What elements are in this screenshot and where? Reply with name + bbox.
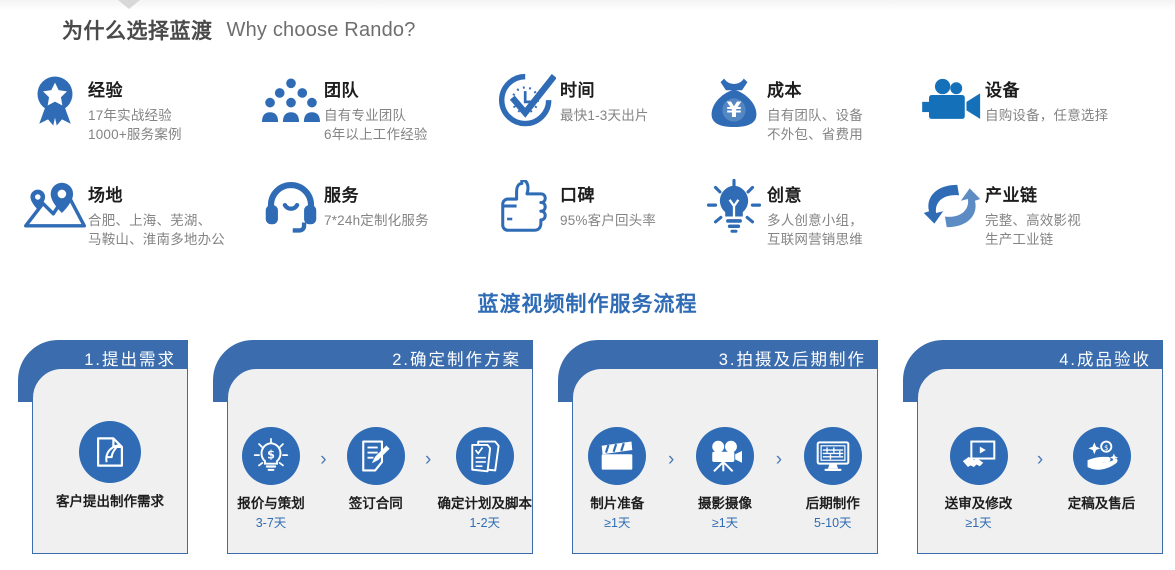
feature-desc: 完整、高效影视 生产工业链	[985, 211, 1081, 249]
feature-item-medal: 经验17年实战经验 1000+服务案例	[22, 70, 258, 175]
feature-title: 产业链	[985, 186, 1081, 206]
process-step[interactable]: 制片准备≥1天	[573, 427, 661, 532]
process-step[interactable]: 客户提出制作需求	[33, 421, 187, 511]
feature-title: 成本	[767, 81, 863, 101]
process-card-header-label: 4.成品验收	[1059, 346, 1151, 370]
svg-text:¥: ¥	[727, 98, 742, 123]
process-step[interactable]: 确定计划及脚本1-2天	[438, 427, 533, 532]
page-title-cn: 为什么选择蓝渡	[62, 15, 213, 45]
bulb-dollar-icon: $	[242, 427, 300, 485]
feature-item-headset: 服务7*24h定制化服务	[258, 175, 494, 270]
headset-icon	[258, 175, 324, 237]
process-step[interactable]: $ 定稿及售后	[1051, 427, 1152, 513]
process-card-4[interactable]: 4.成品验收 送审及修改≥1天› $ 定稿及售后	[903, 340, 1163, 554]
feature-desc: 95%客户回头率	[560, 211, 656, 230]
feature-item-team-people: 团队自有专业团队 6年以上工作经验	[258, 70, 494, 175]
page-root: 为什么选择蓝渡 Why choose Rando? 经验17年实战经验 1000…	[0, 0, 1175, 570]
process-step-list: 客户提出制作需求	[33, 421, 187, 511]
recycle-arrows-icon	[919, 175, 985, 237]
movie-camera-icon	[696, 427, 754, 485]
feature-title: 设备	[985, 81, 1108, 101]
clock-check-icon	[494, 70, 560, 132]
feature-item-money-bag: ¥ 成本自有团队、设备 不外包、省费用	[701, 70, 919, 175]
process-card-body: 客户提出制作需求	[32, 368, 188, 554]
feature-desc: 合肥、上海、芜湖、 马鞍山、淮南多地办公	[88, 211, 225, 249]
process-step-list: $ 报价与策划3-7天› 签订合同› 确定计划及脚本1-2天	[228, 427, 532, 532]
feature-title: 团队	[324, 81, 428, 101]
feature-item-thumbs-up: 口碑95%客户回头率	[494, 175, 701, 270]
process-card-body: $ 报价与策划3-7天› 签订合同› 确定计划及脚本1-2天	[227, 368, 533, 554]
step-label: 送审及修改	[928, 495, 1029, 513]
process-card-3[interactable]: 3.拍摄及后期制作 制片准备≥1天› 摄影摄像≥1天› 后期制作5-10天	[558, 340, 878, 554]
step-label: 后期制作	[789, 495, 877, 513]
top-strip	[0, 0, 1175, 10]
feature-title: 服务	[324, 186, 429, 206]
process-card-body: 制片准备≥1天› 摄影摄像≥1天› 后期制作5-10天	[572, 368, 878, 554]
script-docs-icon	[456, 427, 514, 485]
feature-row-1: 经验17年实战经验 1000+服务案例 团队自有专业团队 6年以上工作经验 时间…	[22, 70, 1167, 175]
feature-text: 时间最快1-3天出片	[560, 70, 649, 125]
feature-text: 设备自购设备，任意选择	[985, 70, 1108, 125]
process-card-2[interactable]: 2.确定制作方案 $ 报价与策划3-7天› 签订合同› 确定计划及脚本1-2天	[213, 340, 533, 554]
document-pen-icon	[79, 421, 141, 483]
feature-desc: 自有专业团队 6年以上工作经验	[324, 106, 428, 144]
section-title: 蓝渡视频制作服务流程	[0, 288, 1175, 318]
step-chevron-icon: ›	[769, 427, 788, 471]
step-chevron-icon: ›	[314, 427, 333, 471]
svg-text:$: $	[267, 449, 275, 462]
feature-grid: 经验17年实战经验 1000+服务案例 团队自有专业团队 6年以上工作经验 时间…	[22, 70, 1167, 270]
step-label: 摄影摄像	[681, 495, 769, 513]
step-label: 制片准备	[573, 495, 661, 513]
clapperboard-icon	[588, 427, 646, 485]
step-label: 定稿及售后	[1051, 495, 1152, 513]
hand-coins-icon: $	[1073, 427, 1131, 485]
feature-text: 创意多人创意小组， 互联网营销思维	[767, 175, 863, 249]
process-step-list: 制片准备≥1天› 摄影摄像≥1天› 后期制作5-10天	[573, 427, 877, 532]
step-duration: ≥1天	[573, 514, 661, 532]
team-people-icon	[258, 70, 324, 132]
step-duration: 5-10天	[789, 514, 877, 532]
feature-title: 场地	[88, 186, 225, 206]
step-label: 签订合同	[333, 495, 419, 513]
process-card-header-label: 3.拍摄及后期制作	[719, 346, 866, 370]
page-title-en: Why choose Rando?	[227, 19, 416, 42]
feature-text: 口碑95%客户回头率	[560, 175, 656, 230]
feature-desc: 7*24h定制化服务	[324, 211, 429, 230]
step-chevron-icon: ›	[661, 427, 680, 471]
feature-row-2: 场地合肥、上海、芜湖、 马鞍山、淮南多地办公 服务7*24h定制化服务 口碑95…	[22, 175, 1167, 270]
feature-desc: 自有团队、设备 不外包、省费用	[767, 106, 863, 144]
feature-text: 服务7*24h定制化服务	[324, 175, 429, 230]
feature-item-recycle-arrows: 产业链完整、高效影视 生产工业链	[919, 175, 1149, 270]
step-label: 报价与策划	[228, 495, 314, 513]
svg-text:$: $	[1104, 444, 1108, 452]
feature-text: 经验17年实战经验 1000+服务案例	[88, 70, 182, 144]
feature-title: 创意	[767, 186, 863, 206]
step-label: 客户提出制作需求	[33, 493, 187, 511]
feature-text: 团队自有专业团队 6年以上工作经验	[324, 70, 428, 144]
thumbs-up-icon	[494, 175, 560, 237]
feature-desc: 多人创意小组， 互联网营销思维	[767, 211, 863, 249]
step-duration: 1-2天	[438, 514, 533, 532]
process-step-list: 送审及修改≥1天› $ 定稿及售后	[918, 427, 1162, 532]
feature-title: 时间	[560, 81, 649, 101]
step-duration: ≥1天	[681, 514, 769, 532]
process-card-list: 1.提出需求 客户提出制作需求2.确定制作方案 $ 报价与策划3-7天› 签订合…	[18, 340, 1163, 554]
monitor-edit-icon	[804, 427, 862, 485]
feature-title: 口碑	[560, 186, 656, 206]
process-card-header-label: 2.确定制作方案	[392, 346, 521, 370]
feature-title: 经验	[88, 81, 182, 101]
step-chevron-icon: ›	[1029, 427, 1051, 471]
medal-icon	[22, 70, 88, 132]
feature-item-lightbulb: 创意多人创意小组， 互联网营销思维	[701, 175, 919, 270]
process-card-body: 送审及修改≥1天› $ 定稿及售后	[917, 368, 1163, 554]
feature-desc: 最快1-3天出片	[560, 106, 649, 125]
step-duration: 3-7天	[228, 514, 314, 532]
lightbulb-icon	[701, 175, 767, 237]
process-step[interactable]: 送审及修改≥1天	[928, 427, 1029, 532]
process-step[interactable]: 后期制作5-10天	[789, 427, 877, 532]
process-step[interactable]: 签订合同	[333, 427, 419, 513]
contract-sign-icon	[347, 427, 405, 485]
feature-item-video-camera: 设备自购设备，任意选择	[919, 70, 1149, 175]
feature-text: 成本自有团队、设备 不外包、省费用	[767, 70, 863, 144]
map-pin-icon	[22, 175, 88, 237]
step-chevron-icon: ›	[419, 427, 438, 471]
feature-desc: 17年实战经验 1000+服务案例	[88, 106, 182, 144]
top-notch-triangle	[118, 0, 140, 9]
feature-text: 产业链完整、高效影视 生产工业链	[985, 175, 1081, 249]
process-step[interactable]: 摄影摄像≥1天	[681, 427, 769, 532]
feature-desc: 自购设备，任意选择	[985, 106, 1108, 125]
page-title: 为什么选择蓝渡 Why choose Rando?	[62, 10, 416, 50]
step-duration: ≥1天	[928, 514, 1029, 532]
feature-item-clock-check: 时间最快1-3天出片	[494, 70, 701, 175]
process-step[interactable]: $ 报价与策划3-7天	[228, 427, 314, 532]
handshake-screen-icon	[950, 427, 1008, 485]
video-camera-icon	[919, 70, 985, 132]
feature-text: 场地合肥、上海、芜湖、 马鞍山、淮南多地办公	[88, 175, 225, 249]
feature-item-map-pin: 场地合肥、上海、芜湖、 马鞍山、淮南多地办公	[22, 175, 258, 270]
step-label: 确定计划及脚本	[438, 495, 533, 513]
process-card-header-label: 1.提出需求	[84, 346, 176, 370]
process-card-1[interactable]: 1.提出需求 客户提出制作需求	[18, 340, 188, 554]
money-bag-icon: ¥	[701, 70, 767, 132]
